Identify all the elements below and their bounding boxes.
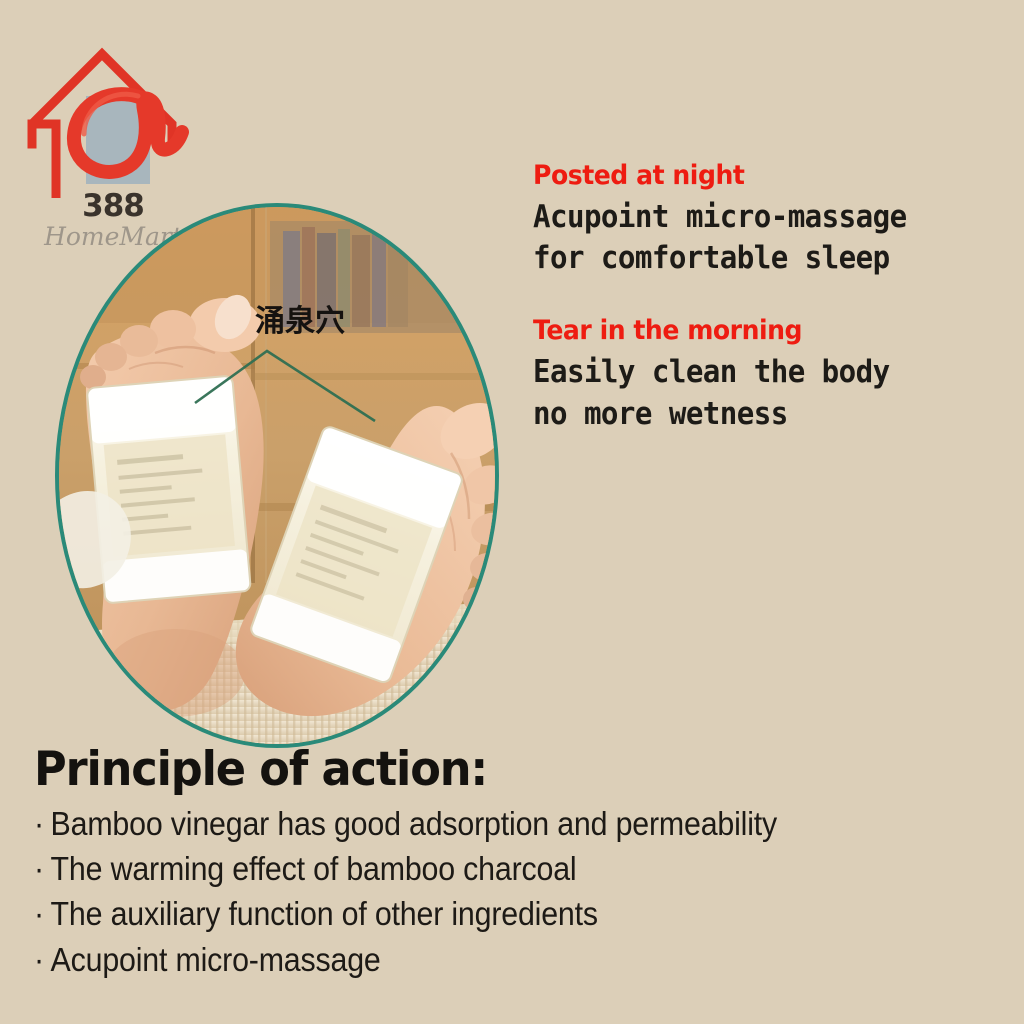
kicker-tear-in-the-morning: Tear in the morning [533, 317, 978, 344]
bullet-glyph: · [34, 801, 51, 846]
list-item-text: The auxiliary function of other ingredie… [51, 895, 598, 932]
benefit-block-night: Posted at night Acupoint micro-massage f… [533, 162, 1011, 279]
principle-of-action-title: Principle of action: [34, 746, 946, 793]
list-item-text: The warming effect of bamboo charcoal [51, 850, 577, 887]
acupoint-annotation-label: 涌泉穴 [255, 304, 345, 339]
principle-bullet-list: ·Bamboo vinegar has good adsorption and … [34, 801, 994, 982]
bullet-glyph: · [34, 846, 51, 891]
product-infographic: 388 HomeMart [0, 0, 1024, 1024]
block-spacer [533, 279, 1011, 317]
benefits-column: Posted at night Acupoint micro-massage f… [533, 162, 1011, 435]
feet-photo-oval: 涌泉穴 [55, 203, 499, 748]
house-with-brush-a-icon [18, 38, 208, 198]
list-item: ·Bamboo vinegar has good adsorption and … [34, 801, 917, 846]
list-item: ·The auxiliary function of other ingredi… [34, 891, 917, 936]
bullet-glyph: · [34, 937, 51, 982]
principle-of-action-section: Principle of action: ·Bamboo vinegar has… [34, 746, 994, 982]
statement-posted-at-night: Acupoint micro-massage for comfortable s… [533, 197, 982, 279]
list-item-text: Bamboo vinegar has good adsorption and p… [51, 805, 777, 842]
benefit-block-morning: Tear in the morning Easily clean the bod… [533, 317, 1011, 434]
kicker-posted-at-night: Posted at night [533, 162, 978, 189]
feet-with-patches-illustration: 涌泉穴 [55, 203, 499, 748]
list-item-text: Acupoint micro-massage [51, 941, 381, 978]
list-item: ·The warming effect of bamboo charcoal [34, 846, 917, 891]
list-item: ·Acupoint micro-massage [34, 937, 917, 982]
statement-tear-in-the-morning: Easily clean the body no more wetness [533, 352, 982, 434]
bullet-glyph: · [34, 891, 51, 936]
